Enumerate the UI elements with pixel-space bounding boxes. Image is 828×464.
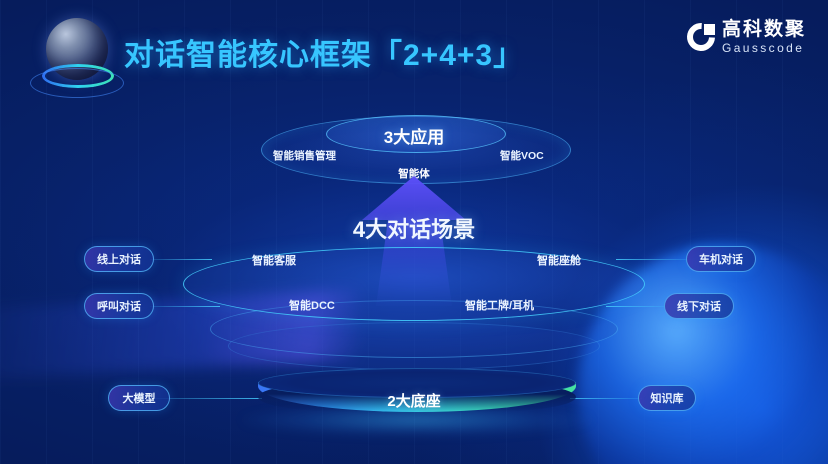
application-item-sales: 智能销售管理 [273,148,336,163]
scenario-item-badge: 智能工牌/耳机 [465,297,534,313]
application-item-voc: 智能VOC [500,148,544,163]
connector-online-dialog [150,259,212,260]
pill-online-dialog[interactable]: 线上对话 [84,246,154,272]
logo-text-cn: 高科数聚 [722,20,806,39]
connector-call-dialog [150,306,220,307]
pill-call-dialog[interactable]: 呼叫对话 [84,293,154,319]
scenario-item-cockpit: 智能座舱 [537,252,581,268]
connector-offline-dialog [606,306,668,307]
gausscode-mark-icon [687,23,715,51]
foundation-title: 2大底座 [0,390,828,411]
connector-invehicle-dialog [616,259,690,260]
logo-text-en: Gausscode [722,42,806,54]
applications-title: 3大应用 [0,123,828,148]
scenarios-title: 4大对话场景 [0,212,828,244]
scenario-item-dcc: 智能DCC [289,297,335,313]
pill-invehicle-dialog[interactable]: 车机对话 [686,246,756,272]
pill-offline-dialog[interactable]: 线下对话 [664,293,734,319]
brand-logo: 高科数聚 Gausscode [687,20,806,54]
orb-outer-ring-icon [30,68,124,98]
header: 对话智能核心框架「2+4+3」 高科数聚 Gausscode [0,0,828,108]
page-title: 对话智能核心框架「2+4+3」 [124,30,524,74]
slide-canvas: 对话智能核心框架「2+4+3」 高科数聚 Gausscode 3大应用 智能销售… [0,0,828,464]
scenario-item-service: 智能客服 [252,252,296,268]
sphere-orb-icon [28,12,124,104]
